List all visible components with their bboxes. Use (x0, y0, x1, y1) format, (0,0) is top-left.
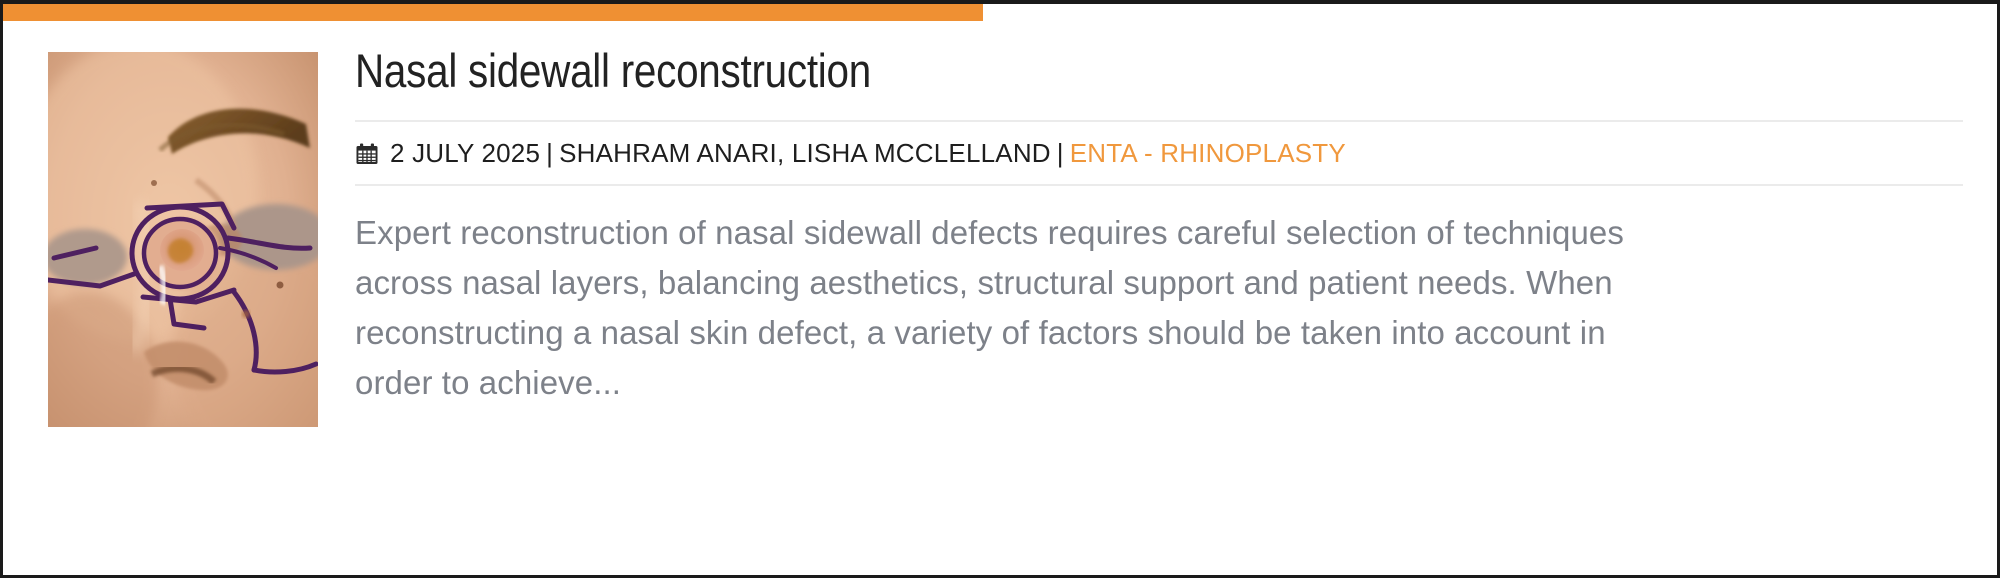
article-excerpt: Expert reconstruction of nasal sidewall … (355, 208, 1645, 408)
article-title[interactable]: Nasal sidewall reconstruction (355, 43, 1738, 99)
calendar-icon (355, 142, 379, 166)
article-content: Nasal sidewall reconstruction (355, 43, 1963, 408)
article-date: 2 JULY 2025 (390, 140, 540, 166)
article-category-link[interactable]: ENTA - RHINOPLASTY (1070, 140, 1346, 166)
article-thumbnail[interactable] (48, 52, 318, 427)
clinical-photo-nasal-sidewall (48, 52, 318, 427)
article-authors[interactable]: SHAHRAM ANARI, LISHA MCCLELLAND (559, 140, 1051, 166)
top-accent-bar (3, 4, 983, 21)
article-card-screenshot: Nasal sidewall reconstruction (0, 0, 2000, 578)
meta-divider-bottom (355, 184, 1963, 186)
article-card[interactable]: Nasal sidewall reconstruction (3, 21, 1997, 575)
meta-separator-2: | (1051, 140, 1070, 166)
article-meta: 2 JULY 2025 | SHAHRAM ANARI, LISHA MCCLE… (355, 122, 1963, 184)
meta-separator-1: | (540, 140, 559, 166)
